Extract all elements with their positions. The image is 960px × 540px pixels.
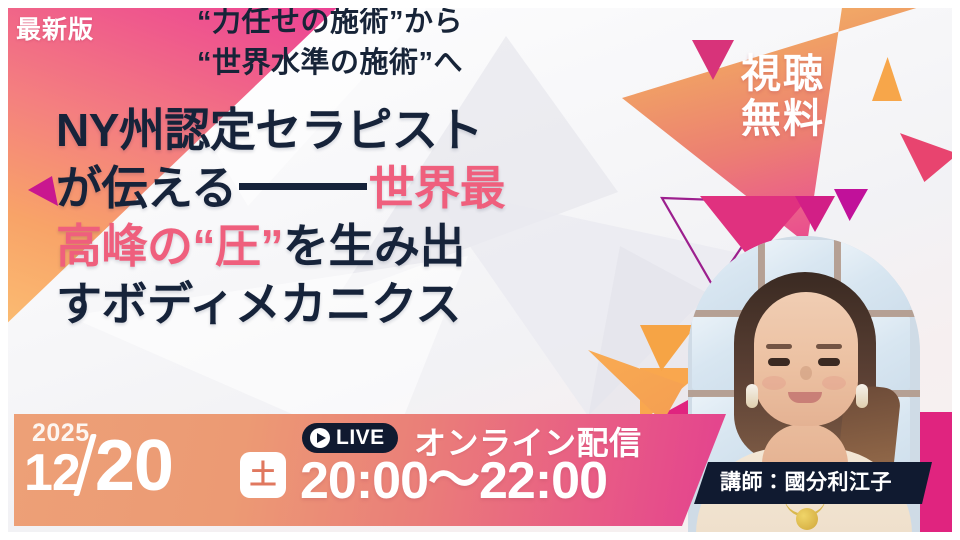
nose <box>800 366 812 380</box>
headline-line1: NY州認定セラピスト <box>56 102 656 160</box>
webinar-banner: 最新版 視聴 無料 <box>0 0 960 540</box>
event-date: 1220 <box>24 430 173 502</box>
pendant <box>796 508 818 530</box>
event-time-range: 20:00〜22:00 <box>300 455 607 507</box>
eyebrow <box>816 344 842 349</box>
subheading: “力任せの施術”から “世界水準の施術”へ <box>0 2 660 84</box>
subheading-line1: “力任せの施術”から <box>0 2 660 43</box>
headline-line4: すボディメカニクス <box>56 276 656 334</box>
eye <box>768 358 790 366</box>
day-of-week-badge: 土 <box>240 452 286 498</box>
headline-line3-navy: を生み出 <box>283 220 465 272</box>
headline-line2-pink: 世界最 <box>369 162 506 214</box>
play-circle-icon <box>310 428 330 448</box>
cheek <box>762 376 786 390</box>
eye <box>818 358 840 366</box>
free-viewing-line1: 視聴 <box>718 52 848 97</box>
headline-dash <box>239 183 367 190</box>
page-title: NY州認定セラピスト が伝える世界最 高峰の“圧”を生み出 すボディメカニクス <box>56 102 656 334</box>
subheading-line2: “世界水準の施術”へ <box>0 43 660 84</box>
free-viewing-label: 視聴 無料 <box>718 52 848 142</box>
live-badge: LIVE <box>302 423 398 453</box>
headline-line3-pink: 高峰の“圧” <box>56 220 283 272</box>
headline-line2: が伝える世界最 <box>56 160 656 218</box>
earring <box>856 384 868 408</box>
earring <box>746 384 758 408</box>
speaker-name-plate: 講師：國分利江子 <box>694 462 932 504</box>
eyebrow <box>766 344 792 349</box>
free-viewing-line2: 無料 <box>718 97 848 142</box>
live-label: LIVE <box>336 426 385 450</box>
headline-line2-navy: が伝える <box>56 162 237 214</box>
event-day: 20 <box>95 426 173 506</box>
cheek <box>822 376 846 390</box>
event-month: 12 <box>24 444 80 502</box>
headline-line3: 高峰の“圧”を生み出 <box>56 218 656 276</box>
